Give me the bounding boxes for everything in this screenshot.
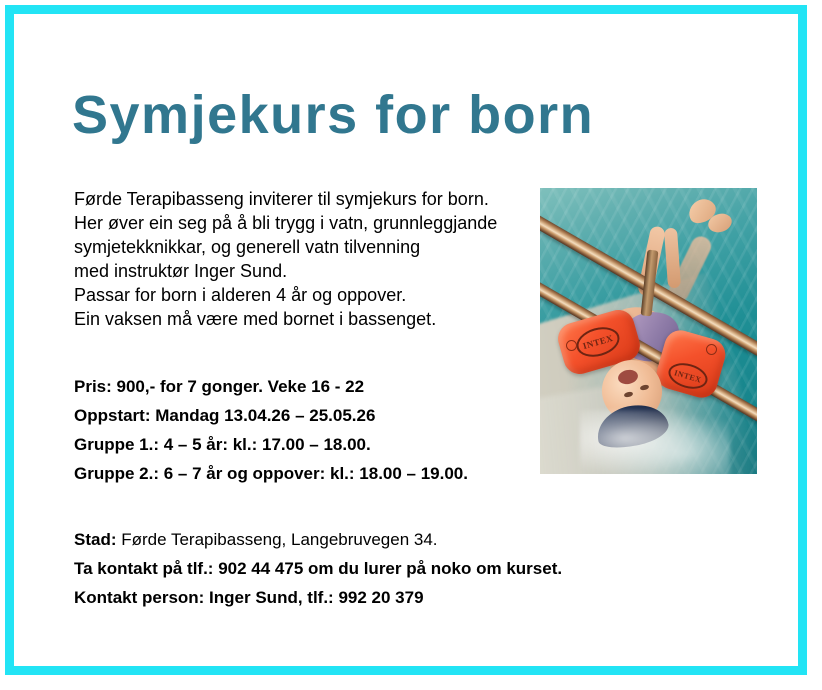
intro-line: symjetekknikkar, og generell vatn tilven… (74, 235, 524, 259)
contact-phone-line: Ta kontakt på tlf.: 902 44 475 om du lur… (74, 554, 634, 583)
contact-person-line: Kontakt person: Inger Sund, tlf.: 992 20… (74, 583, 634, 612)
contact-place-line: Stad: Førde Terapibasseng, Langebruvegen… (74, 525, 634, 554)
detail-start-line: Oppstart: Mandag 13.04.26 – 25.05.26 (74, 401, 534, 430)
intro-line: Passar for born i alderen 4 år og oppove… (74, 283, 524, 307)
intro-line: med instruktør Inger Sund. (74, 259, 524, 283)
place-value: Førde Terapibasseng, Langebruvegen 34. (117, 530, 438, 549)
place-label: Stad: (74, 530, 117, 549)
course-details-block: Pris: 900,- for 7 gonger. Veke 16 - 22 O… (74, 372, 534, 488)
detail-group2-line: Gruppe 2.: 6 – 7 år og oppover: kl.: 18.… (74, 459, 534, 488)
pool-photo: INTEX INTEX (540, 188, 757, 474)
armband-valve-left (566, 340, 577, 351)
contact-block: Stad: Førde Terapibasseng, Langebruvegen… (74, 525, 634, 612)
flyer-page: Symjekurs for born Førde Terapibasseng i… (0, 0, 822, 690)
intro-paragraph: Førde Terapibasseng inviterer til symjek… (74, 187, 524, 331)
intro-line: Førde Terapibasseng inviterer til symjek… (74, 187, 524, 211)
page-title: Symjekurs for born (72, 86, 594, 145)
intro-line: Ein vaksen må være med bornet i bassenge… (74, 307, 524, 331)
water-foam-splash (580, 410, 730, 474)
detail-price-line: Pris: 900,- for 7 gonger. Veke 16 - 22 (74, 372, 534, 401)
intro-line: Her øver ein seg på å bli trygg i vatn, … (74, 211, 524, 235)
detail-group1-line: Gruppe 1.: 4 – 5 år: kl.: 17.00 – 18.00. (74, 430, 534, 459)
armband-valve-right (706, 344, 717, 355)
